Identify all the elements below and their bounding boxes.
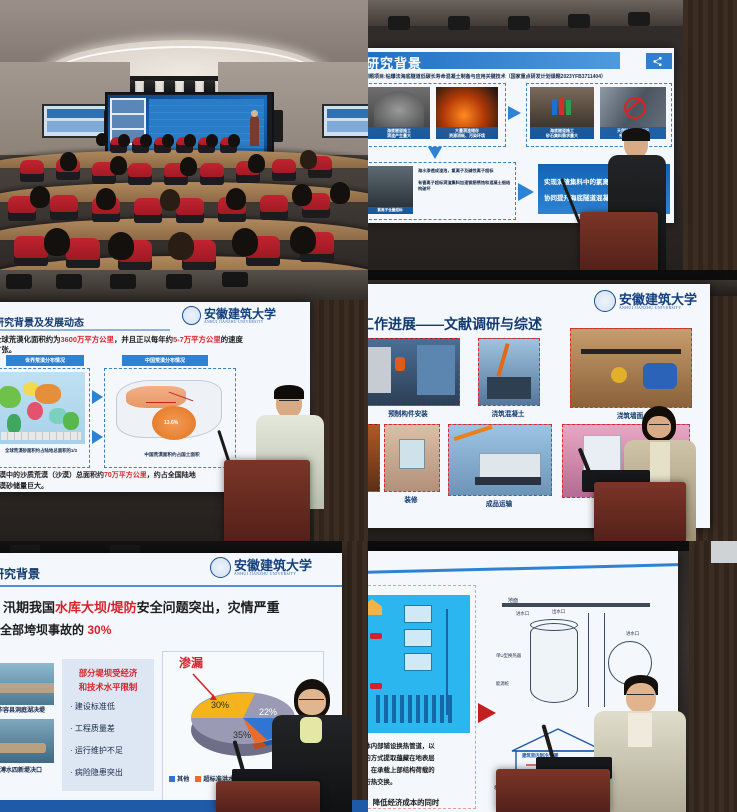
arrow-right-icon bbox=[92, 390, 103, 404]
bottom-seg: 荒漠中的沙质荒漠（沙漠）总面积约 bbox=[0, 472, 104, 479]
photo-caption: 成品运输 bbox=[448, 498, 550, 508]
text-line: 化的方式提取蕴藏在地表层 bbox=[368, 753, 470, 765]
audience-head bbox=[108, 232, 134, 260]
lead-text-2: 扩张。 bbox=[0, 344, 16, 355]
arrow-right-icon bbox=[92, 430, 103, 444]
podium bbox=[216, 781, 320, 812]
photo-side-partial bbox=[368, 424, 380, 492]
eyeglasses bbox=[279, 400, 299, 404]
stage-lamp bbox=[6, 274, 32, 289]
headline-seg: 水库大坝/堤防 bbox=[55, 600, 137, 615]
ceiling-strip bbox=[368, 541, 737, 551]
china-map-caption: 中国荒漠面积约占国土面积 bbox=[110, 452, 234, 458]
seat bbox=[50, 195, 78, 220]
photo-caption: 氯离子含量超标 bbox=[368, 207, 413, 214]
lead-seg: ，并且正以每年约 bbox=[114, 335, 173, 344]
audience-head bbox=[300, 150, 317, 169]
svg-text:35%: 35% bbox=[233, 730, 251, 740]
logo-seal-icon bbox=[594, 290, 616, 312]
photo-dam-breach-2 bbox=[0, 719, 54, 763]
audience-head bbox=[248, 154, 265, 173]
legend-item: 其他 bbox=[169, 774, 189, 783]
ceiling-strip bbox=[368, 0, 737, 26]
podium bbox=[594, 482, 686, 541]
subline-seg: 占全部垮坝事故的 bbox=[0, 623, 87, 637]
stage-lamp bbox=[448, 16, 470, 30]
speaker-face bbox=[626, 683, 656, 713]
audience-head bbox=[330, 182, 350, 204]
seat bbox=[128, 163, 152, 185]
bottom-seg: 70万平方公里 bbox=[104, 472, 147, 479]
audience-head bbox=[232, 228, 258, 256]
title-underline bbox=[0, 329, 170, 331]
photo-tunnel-excavation: 海底隧道施工洞渣产生量大 bbox=[368, 87, 430, 139]
audience-head bbox=[168, 232, 194, 260]
slide-title: 研究背景及发展动态 bbox=[0, 314, 84, 329]
photo-caption: 海底隧道施工砂石集料需求量大 bbox=[530, 127, 594, 139]
photo-concrete-pour bbox=[478, 338, 540, 406]
house-icon bbox=[368, 599, 382, 615]
podium bbox=[580, 212, 658, 270]
university-name-cn: 安徽建筑大学 bbox=[619, 293, 697, 306]
arrow-right-icon bbox=[518, 183, 534, 201]
text-line: 墙体内部铺设换热管道，以 bbox=[368, 741, 470, 753]
photo-wall-casting bbox=[570, 328, 692, 408]
wood-wall-right bbox=[689, 541, 737, 812]
logo-seal-icon bbox=[210, 557, 231, 578]
bottom-seg: ，约占全国陆地 bbox=[147, 472, 196, 479]
podium bbox=[224, 460, 310, 541]
stage-lamp bbox=[508, 16, 530, 30]
audience-head bbox=[226, 188, 246, 210]
panel-title-line-1: 部分堤坝受经济 bbox=[62, 667, 154, 679]
audience-head bbox=[162, 134, 174, 147]
left-text-block: 墙体内部铺设换热管道，以 化的方式提取蕴藏在地表层 地，在承载上部结构荷载的 进… bbox=[368, 741, 470, 788]
photo-collage: 研究背景 课题项目:钻爆法海底隧道低碳长寿命混凝土制备与应用关键技术（国家重点研… bbox=[0, 0, 737, 812]
seat bbox=[272, 159, 296, 181]
photo-caption: 华容县洞庭湖决堤 bbox=[0, 705, 54, 714]
photo-slag-storage: 大量洞渣储存资源消耗、污染环境 bbox=[436, 87, 498, 139]
audience-head bbox=[118, 134, 130, 147]
text-line: 地，在承载上部结构荷载的 bbox=[368, 765, 470, 777]
side-display-right bbox=[322, 104, 368, 138]
panel-title-line-2: 和技术水平限制 bbox=[62, 681, 154, 693]
university-logo: 安徽建筑大学 ANHUI JIANZHU UNIVERSITY bbox=[182, 306, 276, 325]
photo-interior-finishing bbox=[384, 424, 440, 492]
photo-caption: 浇筑混凝土 bbox=[478, 408, 538, 418]
bullet-item: · 病险隐患突出 bbox=[70, 767, 123, 778]
logo-seal-icon bbox=[182, 306, 201, 325]
stage-lamp bbox=[568, 14, 590, 28]
audience-head bbox=[60, 152, 77, 171]
diagram-label-energy-pile: 能源桩 bbox=[496, 681, 509, 687]
photo-caption: 预制构件安装 bbox=[368, 408, 458, 418]
seat bbox=[134, 198, 162, 223]
subline: 占全部垮坝事故的 30% bbox=[0, 621, 111, 638]
title-underline bbox=[0, 585, 342, 587]
bullet-item: · 运行维护不足 bbox=[70, 745, 123, 756]
panel-slide-literature-review: 安徽建筑大学 ANHUI JIANZHU UNIVERSITY 工作进展——文献… bbox=[368, 270, 737, 541]
arrow-down-icon bbox=[428, 147, 442, 159]
lead-seg: 的速度 bbox=[221, 335, 243, 344]
bullet-item: 有害离子超标洞渣集料加速钢筋锈蚀和混凝土细结构破坏 bbox=[418, 180, 512, 193]
diagram-label-uheat: 单U型换热器 bbox=[496, 653, 521, 659]
lead-seg: 全球荒漠化面积约为 bbox=[0, 335, 61, 344]
seat bbox=[14, 236, 48, 266]
photo-caption: 海底隧道施工洞渣产生量大 bbox=[368, 127, 430, 139]
seat bbox=[200, 163, 224, 185]
stage-lamp bbox=[222, 272, 248, 287]
audience-head bbox=[110, 156, 127, 175]
slide-title: 研究背景 bbox=[368, 53, 422, 72]
photo-prefab-install bbox=[368, 338, 460, 406]
audience-head bbox=[96, 188, 116, 210]
presenter-on-stage bbox=[250, 116, 259, 146]
speaker-inner-shirt bbox=[628, 713, 652, 747]
speaker-hair bbox=[622, 128, 650, 141]
world-map-caption: 全球荒漠砂面积约占陆地总面积的1/3 bbox=[0, 448, 85, 454]
stage-lamp bbox=[56, 274, 82, 289]
headline-seg: 安全问题突出，灾情严重 bbox=[137, 600, 280, 615]
stage-lamp bbox=[628, 12, 650, 26]
audience-head bbox=[160, 189, 180, 211]
photo-aggregate-demand: 海底隧道施工砂石集料需求量大 bbox=[530, 87, 594, 139]
lead-seg: 5-7万平方公里 bbox=[173, 335, 221, 344]
photo-caption: 装修 bbox=[384, 494, 438, 504]
audience-head bbox=[180, 157, 197, 176]
seat bbox=[20, 160, 44, 182]
stage-lamp bbox=[388, 16, 410, 30]
panel-slide-research-background-subsea-tunnel: 研究背景 课题项目:钻爆法海底隧道低碳长寿命混凝土制备与应用关键技术（国家重点研… bbox=[368, 0, 737, 270]
eyeglasses bbox=[627, 694, 654, 698]
eyeglasses bbox=[299, 699, 324, 703]
bottom-line: 积，降低经济成本的同时 bbox=[368, 797, 439, 808]
university-logo: 安徽建筑大学 ANHUI JIANZHU UNIVERSITY bbox=[210, 557, 312, 578]
audience-head bbox=[184, 134, 196, 147]
bottom-bullets: 海水渗透成渣泡，氯离子及碱性离子超标 有害离子超标洞渣集料加速钢筋锈蚀和混凝土细… bbox=[418, 168, 512, 193]
lead-seg: 3600万平方公里 bbox=[61, 335, 114, 344]
wood-wall-right bbox=[683, 0, 737, 270]
stage-lamp bbox=[166, 274, 192, 289]
diagram-label-ground: 地面 bbox=[508, 597, 518, 604]
photo-product-transport bbox=[448, 424, 552, 496]
text-line: 进行热交换。 bbox=[368, 777, 470, 789]
panel-slide-dam-safety: 安徽建筑大学 ANHUI JIANZHU UNIVERSITY 研究背景 ，汛期… bbox=[0, 541, 368, 812]
speaker-hair bbox=[274, 385, 304, 399]
lead-text: 全球荒漠化面积约为3600万平方公里，并且正以每年约5-7万平方公里的速度 bbox=[0, 334, 243, 345]
limitations-panel: 部分堤坝受经济 和技术水平限制 · 建设标准低 · 工程质量差 · 运行维护不足… bbox=[62, 659, 154, 791]
audience-head bbox=[140, 134, 152, 147]
university-name-cn: 安徽建筑大学 bbox=[234, 559, 312, 572]
diagram-label-outlet: 出水口 bbox=[552, 609, 565, 615]
world-desertification-map bbox=[0, 372, 85, 444]
eyeglasses bbox=[649, 424, 669, 428]
bottom-text-2: 沙漠砂储量巨大。 bbox=[0, 481, 48, 491]
svg-text:30%: 30% bbox=[211, 700, 229, 710]
diagram-label-inlet-2: 进水口 bbox=[626, 631, 639, 637]
panel-auditorium-wide-shot bbox=[0, 0, 368, 270]
panel-slide-geothermal-diagram: 墙体内部铺设换热管道，以 化的方式提取蕴藏在地表层 地，在承载上部结构荷载的 进… bbox=[368, 541, 737, 812]
photo-caption: 溥水四新堤决口 bbox=[0, 765, 54, 774]
photo-chloride-excess: 氯离子含量超标 bbox=[368, 166, 413, 214]
podium bbox=[496, 769, 610, 812]
bottom-text: 荒漠中的沙质荒漠（沙漠）总面积约70万平方公里，约占全国陆地 bbox=[0, 470, 196, 480]
headline-seg: ，汛期我国 bbox=[0, 600, 55, 615]
slide-title: 工作进展——文献调研与综述 bbox=[368, 314, 542, 334]
audience-head bbox=[206, 134, 218, 147]
panel-slide-desertification-background: 安徽建筑大学 ANHUI JIANZHU UNIVERSITY 研究背景及发展动… bbox=[0, 270, 368, 541]
speaker-inner-shirt bbox=[300, 717, 322, 743]
audience-head bbox=[292, 184, 312, 206]
audience-head bbox=[44, 228, 70, 256]
wall-panel bbox=[711, 541, 737, 563]
headline: ，汛期我国水库大坝/堤防安全问题突出，灾情严重 bbox=[0, 597, 280, 616]
china-desertification-map: 13.6% bbox=[110, 372, 228, 448]
audience-head bbox=[30, 186, 50, 208]
china-box-title: 中国荒漠分布情况 bbox=[122, 355, 208, 366]
bullet-item: 海水渗透成渣泡，氯离子及碱性离子超标 bbox=[418, 168, 512, 175]
photo-caption: 大量洞渣储存资源消耗、污染环境 bbox=[436, 127, 498, 139]
seat bbox=[176, 198, 204, 223]
bullet-item: · 工程质量差 bbox=[70, 723, 115, 734]
subline-seg: 30% bbox=[87, 623, 111, 637]
diagram-label-inlet: 进水口 bbox=[516, 611, 529, 617]
seat bbox=[66, 238, 100, 268]
arrow-right-icon bbox=[478, 703, 496, 723]
audience-head bbox=[96, 133, 108, 146]
slide-accent-line bbox=[368, 563, 678, 574]
map-percentage-label: 13.6% bbox=[164, 420, 178, 426]
university-name-cn: 安徽建筑大学 bbox=[204, 308, 276, 320]
share-icon bbox=[646, 53, 668, 69]
audience-head bbox=[228, 134, 240, 147]
photo-dam-breach-1 bbox=[0, 663, 54, 705]
world-box-title: 世界荒漠分布情况 bbox=[6, 355, 84, 366]
arrow-right-icon bbox=[508, 106, 521, 120]
slide-subtitle: 课题项目:钻爆法海底隧道低碳长寿命混凝土制备与应用关键技术（国家重点研发计划课题… bbox=[368, 73, 670, 80]
university-logo: 安徽建筑大学 ANHUI JIANZHU UNIVERSITY bbox=[594, 290, 697, 312]
slide-title: 研究背景 bbox=[0, 565, 40, 582]
system-schematic bbox=[368, 595, 470, 733]
seat bbox=[260, 195, 288, 220]
stage-lamp bbox=[110, 274, 136, 289]
bullet-item: · 建设标准低 bbox=[70, 701, 115, 712]
title-accent bbox=[667, 53, 672, 69]
audience-head bbox=[290, 226, 316, 254]
